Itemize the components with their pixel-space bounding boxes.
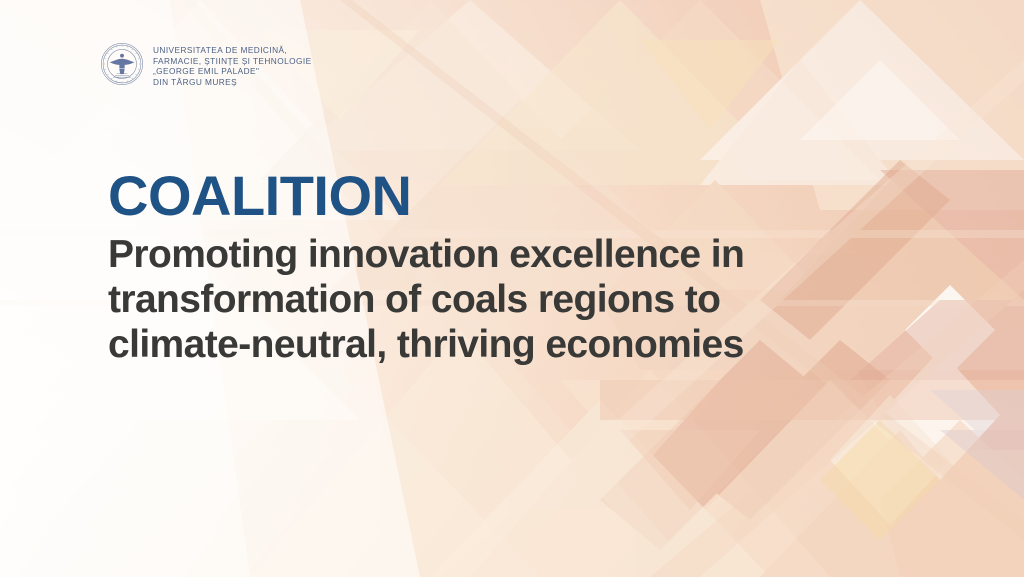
- logo-line-3: „GEORGE EMIL PALADE": [153, 66, 312, 77]
- logo-line-4: DIN TÂRGU MUREȘ: [153, 77, 312, 88]
- headline-block: COALITION Promoting innovation excellenc…: [108, 166, 868, 367]
- subtitle-line-2: transformation of coals regions to: [108, 277, 868, 322]
- university-crest-icon: [100, 42, 144, 86]
- logo-line-2: FARMACIE, ȘTIINȚE ȘI TEHNOLOGIE: [153, 56, 312, 67]
- subtitle: Promoting innovation excellence in trans…: [108, 232, 868, 367]
- university-logo-text: UNIVERSITATEA DE MEDICINĂ, FARMACIE, ȘTI…: [153, 41, 312, 87]
- page-title: COALITION: [108, 166, 868, 226]
- university-logo: UNIVERSITATEA DE MEDICINĂ, FARMACIE, ȘTI…: [100, 41, 312, 87]
- presentation-slide: UNIVERSITATEA DE MEDICINĂ, FARMACIE, ȘTI…: [0, 0, 1024, 577]
- subtitle-line-3: climate-neutral, thriving economies: [108, 322, 868, 367]
- logo-line-1: UNIVERSITATEA DE MEDICINĂ,: [153, 45, 312, 56]
- subtitle-line-1: Promoting innovation excellence in: [108, 232, 868, 277]
